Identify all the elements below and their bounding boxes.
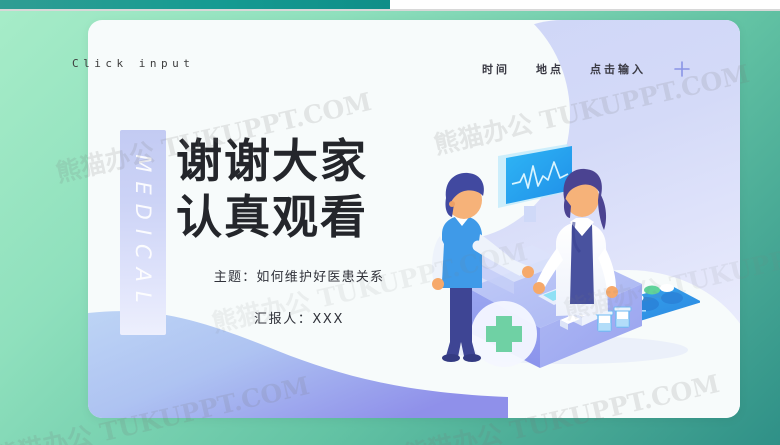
title-line-2: 认真观看: [176, 189, 368, 245]
subtitle-topic: 主题：如何维护好医患关系: [176, 266, 422, 285]
medical-side-band: MEDICAL: [120, 130, 166, 335]
medical-vertical-label: MEDICAL: [131, 154, 155, 311]
page-title: 谢谢大家 认真观看: [176, 133, 368, 245]
header-item-click-input[interactable]: 点击输入: [590, 61, 646, 77]
top-divider: [0, 9, 780, 11]
slide-canvas: Click input 时间 地点 点击输入 MEDICAL 谢谢大家 认真观看…: [0, 0, 780, 445]
header-item-time[interactable]: 时间: [482, 61, 510, 77]
subtitle-presenter: 汇报人：XXX: [176, 308, 422, 327]
header-item-place[interactable]: 地点: [536, 61, 564, 77]
top-strip-track: [390, 0, 780, 9]
header-meta-group: 时间 地点 点击输入: [482, 59, 692, 79]
title-line-1: 谢谢大家: [176, 133, 368, 189]
green-cross-badge: [471, 301, 537, 367]
plus-icon[interactable]: [672, 59, 692, 79]
click-input-label[interactable]: Click input: [72, 57, 194, 70]
subtitle-group: 主题：如何维护好医患关系 汇报人：XXX: [176, 266, 422, 327]
pharmacy-counter-illustration: [420, 118, 700, 368]
ecg-monitor: [498, 144, 572, 222]
top-progress-strip: [0, 0, 390, 9]
